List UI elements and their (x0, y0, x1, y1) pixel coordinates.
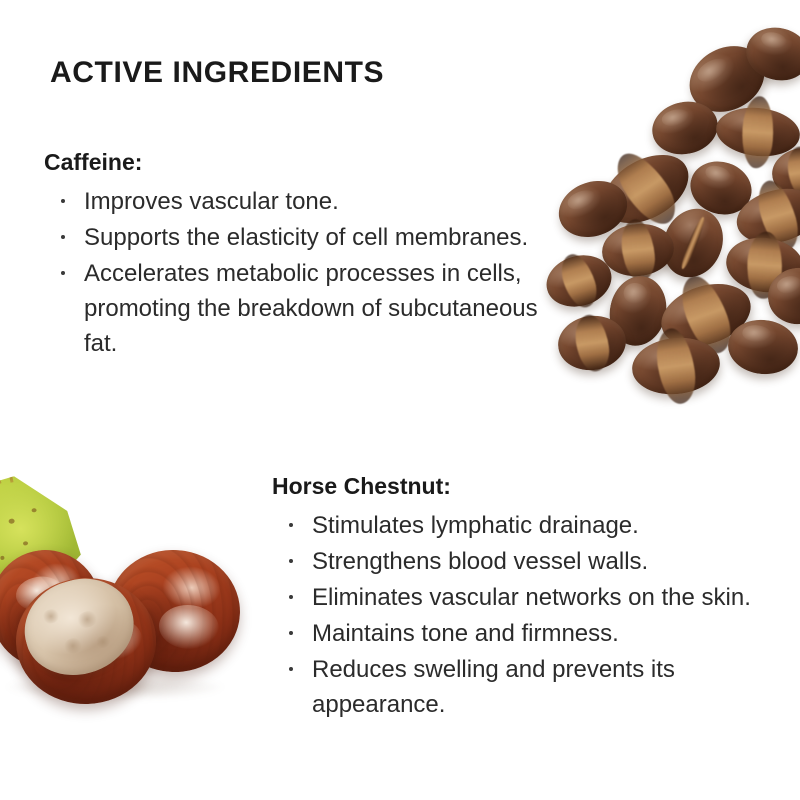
bean-crack (619, 218, 658, 283)
bean-crack (740, 95, 776, 169)
list-item: Strengthens blood vessel walls. (272, 544, 772, 579)
list-item-text: Improves vascular tone. (84, 188, 339, 215)
bean-sheen (622, 281, 649, 306)
list-item-text: Stimulates lymphatic drainage. (312, 512, 639, 539)
ingredients-page: ACTIVE INGREDIENTS Caffeine: Improves va… (0, 0, 800, 800)
bean-sheen (741, 324, 772, 343)
list-item-text: Maintains tone and firmness. (312, 620, 619, 647)
bullet-dot-icon (289, 667, 293, 671)
section-heading-caffeine: Caffeine: (44, 148, 564, 176)
list-item: Improves vascular tone. (44, 184, 564, 219)
list-item: Reduces swelling and prevents its appear… (272, 652, 772, 722)
bean-crack (653, 326, 699, 406)
page-title: ACTIVE INGREDIENTS (50, 56, 384, 90)
bean-sheen (775, 274, 800, 295)
section-horse-chestnut: Horse Chestnut: Stimulates lymphatic dra… (272, 472, 772, 723)
list-item: Stimulates lymphatic drainage. (272, 508, 772, 543)
caffeine-benefit-list: Improves vascular tone. Supports the ela… (44, 184, 564, 361)
list-item-text: Eliminates vascular networks on the skin… (312, 584, 751, 611)
scar-speck (40, 607, 61, 625)
husk-spike (34, 466, 38, 480)
coffee-beans-photo (540, 20, 800, 410)
list-item: Maintains tone and firmness. (272, 616, 772, 651)
bean-sheen (759, 30, 789, 52)
bean-sheen (694, 55, 732, 87)
section-caffeine: Caffeine: Improves vascular tone. Suppor… (44, 148, 564, 362)
husk-blotch (23, 541, 28, 546)
list-item: Supports the elasticity of cell membrane… (44, 220, 564, 255)
bullet-dot-icon (289, 631, 293, 635)
bullet-dot-icon (289, 559, 293, 563)
section-heading-horse-chestnut: Horse Chestnut: (272, 472, 772, 500)
scar-speck (61, 636, 84, 656)
list-item-text: Supports the elasticity of cell membrane… (84, 224, 528, 251)
bullet-dot-icon (61, 271, 65, 275)
husk-blotch (0, 556, 4, 560)
scar-speck (74, 609, 100, 630)
horse-chestnut-photo (0, 468, 248, 708)
bean-sheen (660, 107, 690, 128)
bullet-dot-icon (289, 595, 293, 599)
husk-blotch (8, 518, 14, 524)
list-item-text: Accelerates metabolic processes in cells… (84, 260, 538, 357)
horse-chestnut-benefit-list: Stimulates lymphatic drainage. Strengthe… (272, 508, 772, 722)
husk-spike (7, 464, 14, 483)
scar-speck (94, 634, 113, 650)
bullet-dot-icon (61, 199, 65, 203)
list-item: Eliminates vascular networks on the skin… (272, 580, 772, 615)
bullet-dot-icon (61, 235, 65, 239)
husk-blotch (31, 508, 36, 513)
list-item-text: Strengthens blood vessel walls. (312, 548, 648, 575)
bullet-dot-icon (289, 523, 293, 527)
bean-sheen (565, 187, 598, 212)
bean-sheen (703, 163, 733, 186)
bean-crack (572, 312, 612, 373)
list-item-text: Reduces swelling and prevents its appear… (312, 656, 675, 718)
bean-crack (679, 216, 707, 271)
husk-spike (0, 468, 2, 484)
list-item: Accelerates metabolic processes in cells… (44, 256, 564, 361)
husk-spike (21, 463, 25, 480)
